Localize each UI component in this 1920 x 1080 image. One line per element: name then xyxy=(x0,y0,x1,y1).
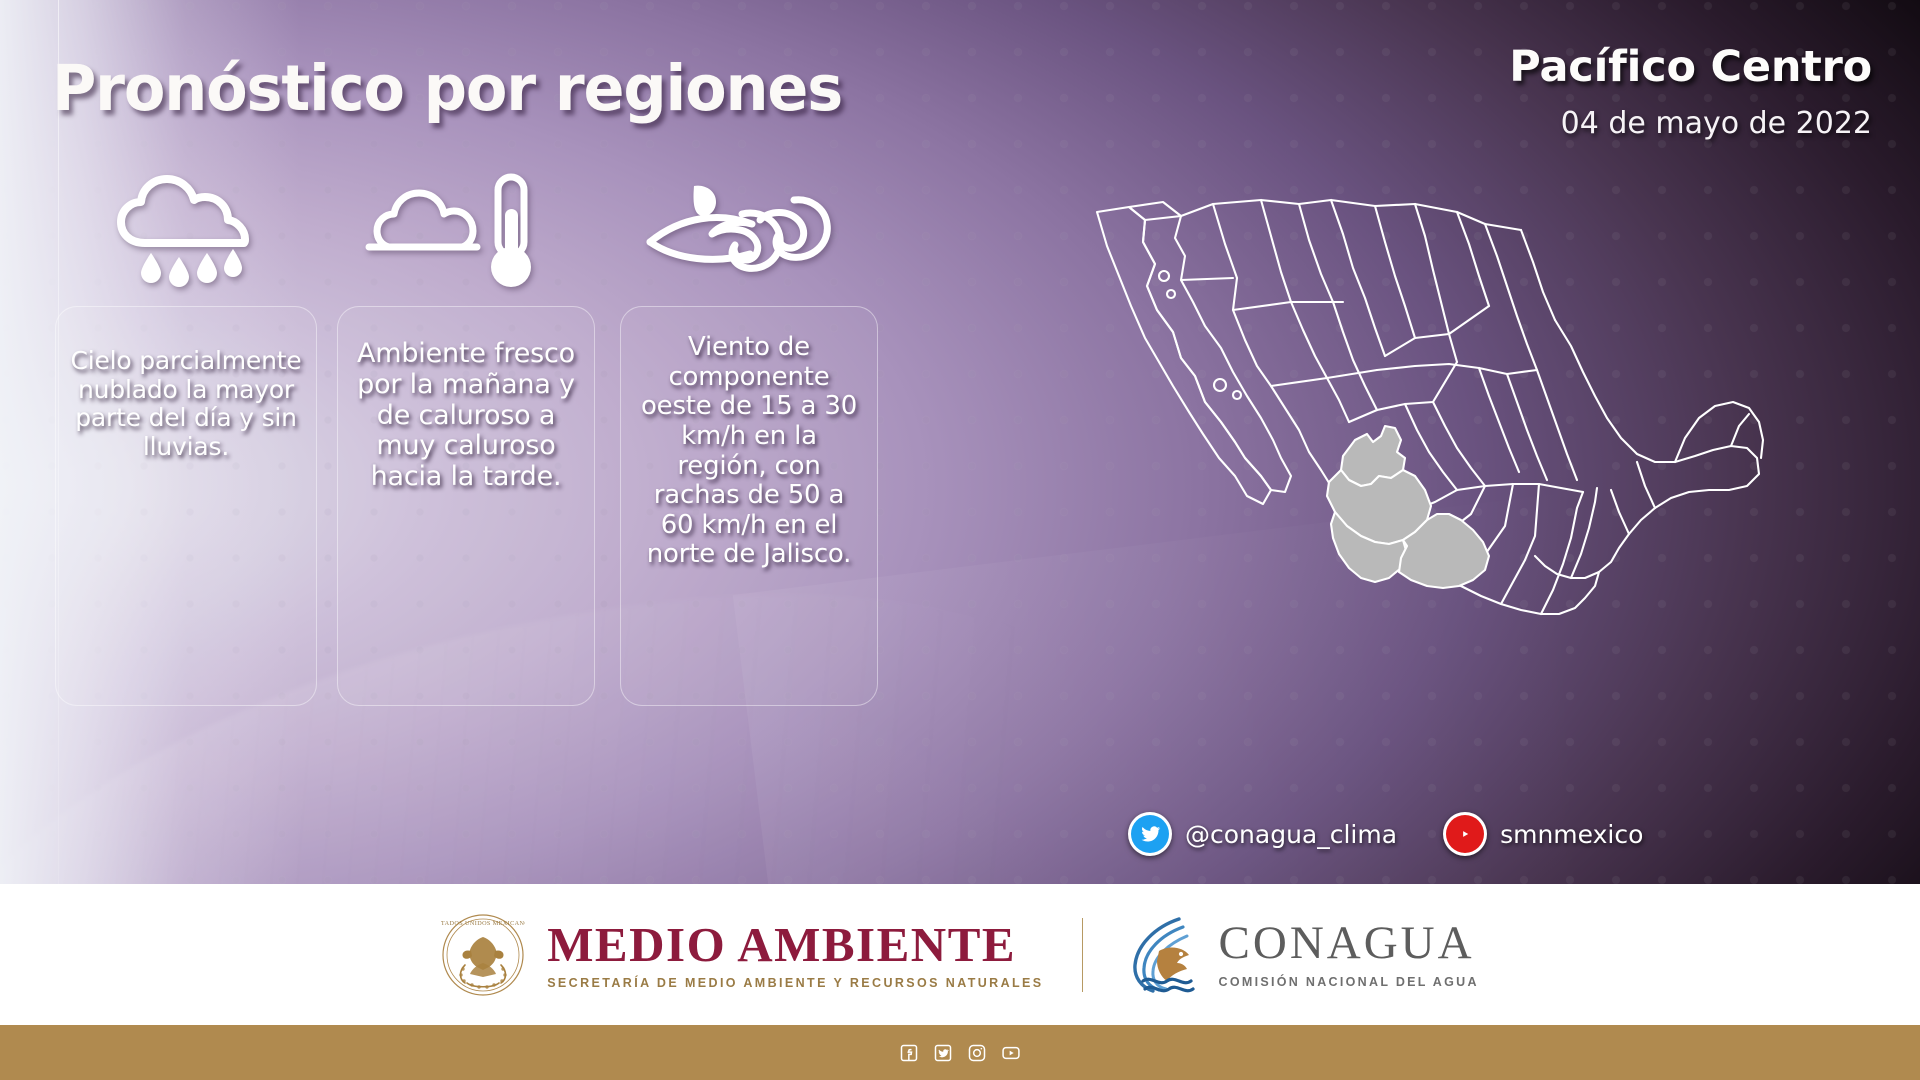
forecast-date: 04 de mayo de 2022 xyxy=(1561,106,1872,141)
region-title: Pacífico Centro xyxy=(1509,42,1872,92)
twitter-account[interactable]: @conagua_clima xyxy=(1128,812,1397,856)
semarnat-subtitle: SECRETARÍA DE MEDIO AMBIENTE Y RECURSOS … xyxy=(547,977,1043,990)
youtube-handle: smnmexico xyxy=(1500,820,1643,849)
social-handles-row: @conagua_clima smnmexico xyxy=(1128,812,1643,856)
forecast-text-sky: Cielo parcialmente nublado la mayor part… xyxy=(70,347,302,461)
forecast-card-wind: Viento de componente oeste de 15 a 30 km… xyxy=(620,306,878,706)
conagua-title: CONAGUA xyxy=(1219,920,1479,967)
forecast-column-sky: Cielo parcialmente nublado la mayor part… xyxy=(55,306,317,706)
bottom-social-bar xyxy=(0,1025,1920,1080)
page-title: Pronóstico por regiones xyxy=(52,52,842,125)
mexican-coat-of-arms-icon: ESTADOS UNIDOS MEXICANOS xyxy=(441,913,525,997)
conagua-logo: CONAGUA COMISIÓN NACIONAL DEL AGUA xyxy=(1121,913,1479,997)
conagua-eagle-water-icon xyxy=(1121,913,1201,997)
forecast-card-temperature: Ambiente fresco por la mañana y de calur… xyxy=(337,306,595,706)
forecast-column-temperature: Ambiente fresco por la mañana y de calur… xyxy=(337,306,595,706)
footer-divider xyxy=(1082,918,1083,992)
forecast-column-wind: Viento de componente oeste de 15 a 30 km… xyxy=(620,306,878,706)
twitter-icon[interactable] xyxy=(933,1043,953,1063)
facebook-icon[interactable] xyxy=(899,1043,919,1063)
semarnat-title: MEDIO AMBIENTE xyxy=(547,920,1043,969)
infographic-root: Pronóstico por regiones Pacífico Centro … xyxy=(0,0,1920,1080)
semarnat-logo: ESTADOS UNIDOS MEXICANOS xyxy=(441,913,1043,997)
forecast-text-wind: Viento de componente oeste de 15 a 30 km… xyxy=(635,333,863,570)
footer-logos: ESTADOS UNIDOS MEXICANOS xyxy=(0,884,1920,1025)
conagua-subtitle: COMISIÓN NACIONAL DEL AGUA xyxy=(1219,976,1479,989)
youtube-icon[interactable] xyxy=(1443,812,1487,856)
youtube-icon[interactable] xyxy=(1001,1043,1021,1063)
forecast-card-sky: Cielo parcialmente nublado la mayor part… xyxy=(55,306,317,706)
forecast-text-temperature: Ambiente fresco por la mañana y de calur… xyxy=(352,339,580,493)
mexico-map xyxy=(1085,190,1785,660)
svg-text:ESTADOS UNIDOS MEXICANOS: ESTADOS UNIDOS MEXICANOS xyxy=(441,920,525,927)
twitter-icon[interactable] xyxy=(1128,812,1172,856)
instagram-icon[interactable] xyxy=(967,1043,987,1063)
youtube-account[interactable]: smnmexico xyxy=(1443,812,1643,856)
twitter-handle: @conagua_clima xyxy=(1185,820,1397,849)
